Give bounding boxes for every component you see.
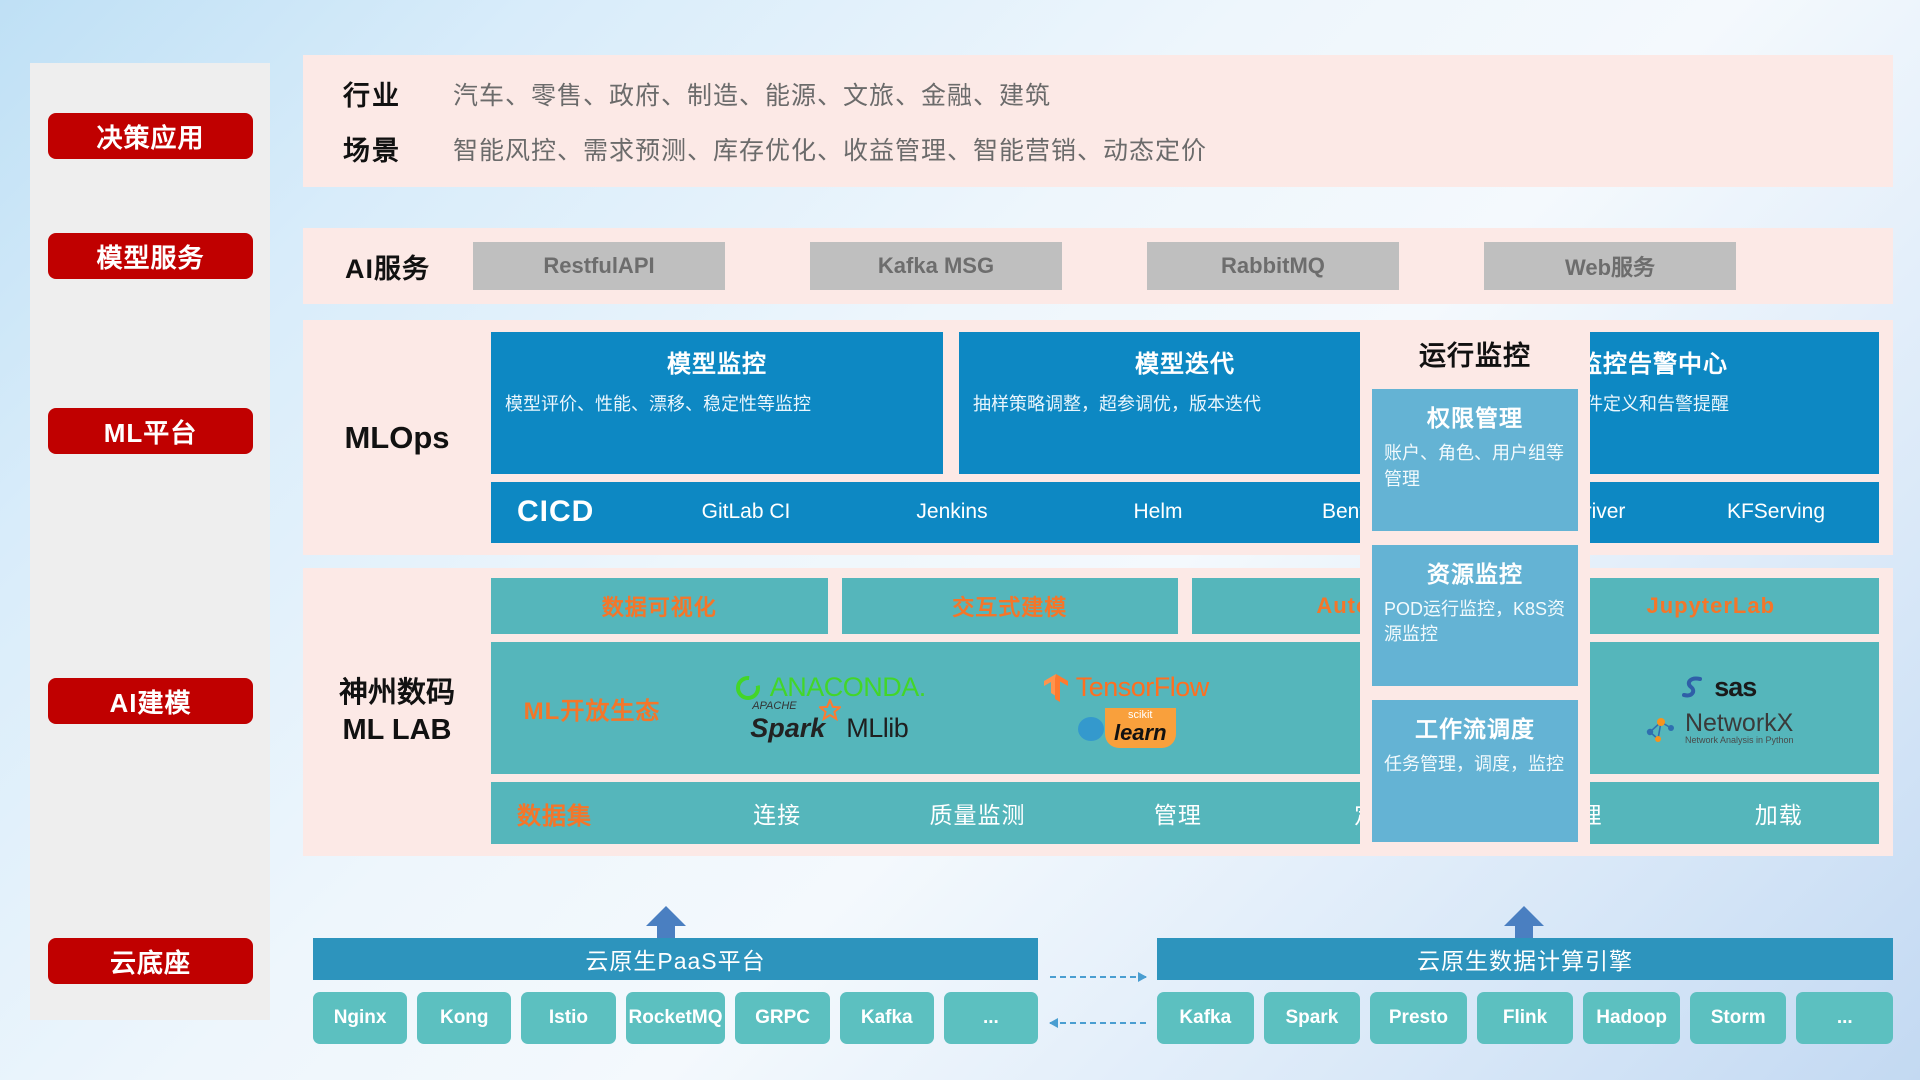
cloud-chip[interactable]: Kong (417, 992, 511, 1044)
rail-badge-2[interactable]: ML平台 (48, 408, 253, 454)
networkx-subtitle: Network Analysis in Python (1685, 736, 1794, 745)
mlops-card[interactable]: 模型监控模型评价、性能、漂移、稳定性等监控 (491, 332, 943, 474)
application-row-text: 汽车、零售、政府、制造、能源、文旅、金融、建筑 (453, 76, 1051, 112)
ml-lab-tab[interactable]: JupyterLab (1543, 578, 1880, 634)
ml-lab-tab[interactable]: 数据可视化 (491, 578, 828, 634)
ml-lab-label-line2: ML LAB (342, 714, 451, 746)
cloud-chip[interactable]: Storm (1690, 992, 1787, 1044)
cicd-item[interactable]: GitLab CI (643, 498, 849, 526)
cloud-chip[interactable]: RocketMQ (626, 992, 726, 1044)
cicd-bar: CICD GitLab CIJenkinsHelmBentoMLScrewdri… (491, 482, 1879, 543)
cloud-chip[interactable]: Nginx (313, 992, 407, 1044)
mlops-card-title: 模型监控 (667, 344, 767, 379)
cloud-chip[interactable]: Kafka (1157, 992, 1254, 1044)
ml-ecosystem-label: ML开放生态 (503, 691, 681, 726)
sas-logo[interactable]: sas (1571, 672, 1868, 703)
paas-to-data-link (1050, 976, 1146, 978)
cicd-item[interactable]: Jenkins (849, 498, 1055, 526)
application-row-label: 行业 (323, 74, 453, 113)
cloud-data-engine-group: 云原生数据计算引擎 KafkaSparkPrestoFlinkHadoopSto… (1157, 938, 1893, 1044)
rail-badge-4[interactable]: 云底座 (48, 938, 253, 984)
mlops-card-desc: 抽样策略调整，超参调优，版本迭代 (973, 391, 1397, 417)
ml-lab-label: 神州数码 ML LAB (303, 568, 491, 856)
cloud-chip[interactable]: ... (944, 992, 1038, 1044)
ai-service-label: AI服务 (323, 247, 473, 286)
monitor-card-desc: 账户、角色、用户组等管理 (1384, 441, 1566, 492)
ml-lab-label-line1: 神州数码 (339, 677, 455, 709)
decision-applications-band: 行业汽车、零售、政府、制造、能源、文旅、金融、建筑场景智能风控、需求预测、库存优… (303, 55, 1893, 187)
tensorflow-mark-icon (1043, 673, 1069, 703)
networkx-logo-text: NetworkX (1685, 711, 1794, 737)
learn-logo-text: learn (1114, 721, 1167, 744)
dataset-item[interactable]: 管理 (1078, 796, 1278, 830)
tensorflow-logo[interactable]: TensorFlow (978, 672, 1275, 703)
monitor-card[interactable]: 工作流调度任务管理，调度，监控 (1372, 700, 1578, 842)
cloud-chip[interactable]: ... (1796, 992, 1893, 1044)
ai-service-chip[interactable]: RabbitMQ (1147, 242, 1399, 290)
ml-ecosystem-row: ML开放生态 ANACONDA. TensorFlo (491, 642, 1879, 774)
monitor-card[interactable]: 资源监控POD运行监控，K8S资源监控 (1372, 545, 1578, 687)
scikit-learn-logo[interactable]: scikit learn (978, 708, 1275, 748)
cloud-chip[interactable]: Kafka (840, 992, 934, 1044)
cloud-paas-title: 云原生PaaS平台 (313, 938, 1038, 980)
ai-service-chip[interactable]: RestfulAPI (473, 242, 725, 290)
mlops-card[interactable]: 模型迭代抽样策略调整，超参调优，版本迭代 (959, 332, 1411, 474)
anaconda-mark-icon (733, 673, 763, 703)
ai-service-band: AI服务 RestfulAPIKafka MSGRabbitMQWeb服务 (303, 228, 1893, 304)
monitor-card-desc: POD运行监控，K8S资源监控 (1384, 597, 1566, 648)
sas-mark-icon (1681, 674, 1707, 702)
application-row-label: 场景 (323, 129, 453, 168)
sas-logo-text: sas (1714, 672, 1756, 703)
dataset-title: 数据集 (517, 796, 677, 831)
mlops-label: MLOps (303, 320, 491, 555)
networkx-logo[interactable]: NetworkX Network Analysis in Python (1571, 711, 1868, 746)
spark-mllib-logo[interactable]: APACHE Spark MLlib (681, 713, 978, 744)
dataset-item[interactable]: 连接 (677, 796, 877, 830)
application-row-text: 智能风控、需求预测、库存优化、收益管理、智能营销、动态定价 (453, 131, 1207, 167)
monitor-card-desc: 任务管理，调度，监控 (1384, 752, 1566, 778)
networkx-graph-icon (1644, 712, 1678, 744)
cloud-chip[interactable]: Presto (1370, 992, 1467, 1044)
ml-lab-band: 神州数码 ML LAB 数据可视化交互式建模AutoMLJupyterLab M… (303, 568, 1893, 856)
ai-service-chip[interactable]: Kafka MSG (810, 242, 1062, 290)
mlops-card-desc: 模型评价、性能、漂移、稳定性等监控 (505, 391, 929, 417)
mllib-logo-text: MLlib (846, 713, 908, 744)
application-row: 行业汽车、零售、政府、制造、能源、文旅、金融、建筑 (323, 74, 1873, 113)
cloud-chip[interactable]: Flink (1477, 992, 1574, 1044)
runtime-monitor-panel: 运行监控 权限管理账户、角色、用户组等管理资源监控POD运行监控，K8S资源监控… (1360, 320, 1590, 856)
monitor-card-title: 工作流调度 (1384, 710, 1566, 744)
cloud-data-engine-title: 云原生数据计算引擎 (1157, 938, 1893, 980)
cloud-paas-group: 云原生PaaS平台 NginxKongIstioRocketMQGRPCKafk… (313, 938, 1038, 1044)
mlops-card-title: 监控告警中心 (1578, 344, 1728, 379)
layer-rail: 决策应用模型服务ML平台AI建模云底座 (30, 63, 270, 1020)
ml-lab-tab[interactable]: 交互式建模 (842, 578, 1179, 634)
architecture-main: 行业汽车、零售、政府、制造、能源、文旅、金融、建筑场景智能风控、需求预测、库存优… (303, 0, 1893, 1080)
cicd-item[interactable]: KFServing (1673, 498, 1879, 526)
cloud-chip[interactable]: Hadoop (1583, 992, 1680, 1044)
cicd-title: CICD (517, 495, 643, 529)
mlops-band: MLOps 模型监控模型评价、性能、漂移、稳定性等监控模型迭代抽样策略调整，超参… (303, 320, 1893, 555)
cloud-chip[interactable]: Istio (521, 992, 615, 1044)
cloud-chip[interactable]: Spark (1264, 992, 1361, 1044)
monitor-card[interactable]: 权限管理账户、角色、用户组等管理 (1372, 389, 1578, 531)
cloud-chip[interactable]: GRPC (735, 992, 829, 1044)
ai-service-chip[interactable]: Web服务 (1484, 242, 1736, 290)
spark-logo-text: Spark (750, 713, 825, 743)
tensorflow-logo-text: TensorFlow (1076, 672, 1209, 703)
runtime-monitor-title: 运行监控 (1372, 334, 1578, 373)
application-row: 场景智能风控、需求预测、库存优化、收益管理、智能营销、动态定价 (323, 129, 1873, 168)
dataset-row: 数据集 连接质量监测管理定义处理加载 (491, 782, 1879, 844)
dataset-item[interactable]: 加载 (1679, 796, 1879, 830)
cicd-item[interactable]: Helm (1055, 498, 1261, 526)
rail-badge-0[interactable]: 决策应用 (48, 113, 253, 159)
monitor-card-title: 资源监控 (1384, 555, 1566, 589)
scikit-blue-blob-icon (1076, 712, 1106, 744)
monitor-card-title: 权限管理 (1384, 399, 1566, 433)
data-to-paas-link (1050, 1022, 1146, 1024)
spark-star-icon (819, 699, 841, 721)
mlops-card-title: 模型迭代 (1135, 344, 1235, 379)
rail-badge-1[interactable]: 模型服务 (48, 233, 253, 279)
dataset-item[interactable]: 质量监测 (877, 796, 1077, 830)
rail-badge-3[interactable]: AI建模 (48, 678, 253, 724)
spark-apache-text: APACHE (752, 700, 796, 712)
